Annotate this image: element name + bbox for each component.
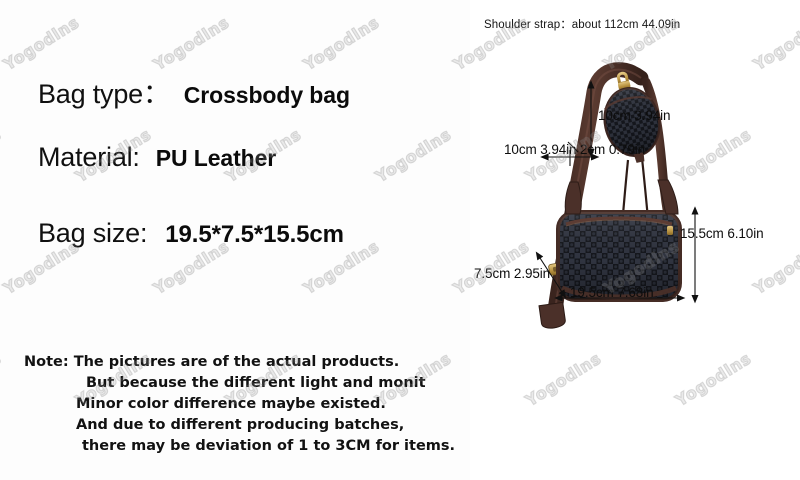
dimension-pouch-width: 2cm 0.79in xyxy=(580,142,645,157)
spec-value-material: PU Leather xyxy=(156,145,276,172)
note-line: And due to different producing batches, xyxy=(24,415,455,436)
spec-label-material: Material: xyxy=(38,142,140,173)
spec-row-material: Material: PU Leather xyxy=(38,142,276,173)
product-spec-sheet: Bag type： Crossbody bag Material: PU Lea… xyxy=(0,0,800,480)
spec-label-bag-type: Bag type： xyxy=(38,72,170,111)
product-image-panel: Shoulder strap：about 112cm 44.09in xyxy=(470,0,800,480)
dimension-bag-width: 19.5cm 7.68in xyxy=(570,285,654,300)
product-photo: 10cm 3.94in 10cm 3.94in 2cm 0.79in 15.5c… xyxy=(470,0,800,480)
spec-label-bag-size: Bag size: xyxy=(38,218,147,249)
dimension-strap-width: 10cm 3.94in xyxy=(504,142,576,157)
note-line: But because the different light and moni… xyxy=(24,373,455,394)
note-line: Minor color difference maybe existed. xyxy=(24,394,455,415)
dimension-pouch-height: 10cm 3.94in xyxy=(598,108,670,123)
specification-panel: Bag type： Crossbody bag Material: PU Lea… xyxy=(0,0,470,480)
spec-row-bag-type: Bag type： Crossbody bag xyxy=(38,72,350,111)
note-block: Note: The pictures are of the actual pro… xyxy=(24,352,455,457)
spec-value-bag-size: 19.5*7.5*15.5cm xyxy=(165,221,344,249)
note-line: Note: The pictures are of the actual pro… xyxy=(24,352,455,373)
dimension-bag-depth: 7.5cm 2.95in xyxy=(474,266,550,281)
spec-value-bag-type: Crossbody bag xyxy=(184,82,350,109)
spec-row-bag-size: Bag size: 19.5*7.5*15.5cm xyxy=(38,218,344,249)
note-line: there may be deviation of 1 to 3CM for i… xyxy=(24,436,455,457)
dimension-bag-height: 15.5cm 6.10in xyxy=(680,226,764,241)
